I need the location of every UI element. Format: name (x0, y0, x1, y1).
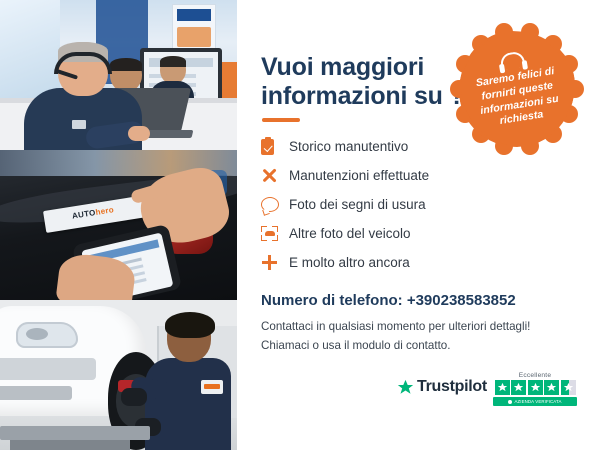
speech-bubble-icon (261, 197, 289, 212)
photo-strip: AUTOhero (0, 0, 237, 450)
star-icon (495, 380, 510, 395)
content-panel: Vuoi maggiori informazioni su ? Saremo f… (237, 0, 600, 450)
trustpilot-wordmark: Trustpilot (417, 378, 487, 396)
photo-call-center (0, 0, 237, 150)
list-item: Manutenzioni effettuate (261, 161, 561, 190)
photo3-lift-base (10, 440, 130, 450)
photo-sticker-inspection: AUTOhero (0, 150, 237, 300)
list-item: Storico manutentivo (261, 132, 561, 161)
trustpilot-widget[interactable]: Trustpilot Eccellente (397, 372, 577, 414)
photo3-headlight (16, 322, 78, 348)
callout-badge: Saremo felici di fornirti queste informa… (459, 31, 575, 147)
plus-icon (261, 254, 289, 271)
contact-line-1: Contattaci in qualsiasi momento per ulte… (261, 318, 573, 337)
document-check-icon (261, 139, 289, 155)
car-frame-icon (261, 226, 289, 241)
star-icon (528, 380, 543, 395)
star-icon (511, 380, 526, 395)
verified-label: AZIENDA VERIFICATA (514, 399, 561, 404)
contact-instructions: Contattaci in qualsiasi momento per ulte… (261, 318, 573, 356)
wrench-cross-icon (261, 167, 289, 184)
badge-text: Saremo felici di fornirti queste informa… (457, 62, 580, 135)
trustpilot-rating: Eccellente (493, 372, 577, 406)
list-item: Altre foto del veicolo (261, 219, 561, 248)
photo-mechanic-lift (0, 300, 237, 450)
advertisement-panel: AUTOhero Vuoi m (0, 0, 600, 450)
verified-check-icon (508, 400, 512, 404)
trustpilot-star-icon (397, 379, 414, 396)
list-item-label: E molto altro ancora (289, 255, 410, 270)
phone-number[interactable]: Numero di telefono: +390238583852 (261, 292, 516, 309)
trustpilot-logo: Trustpilot (397, 378, 487, 396)
star-rating (493, 380, 577, 395)
title-divider (262, 118, 300, 122)
photo3-lift-arm (0, 426, 150, 440)
list-item: E molto altro ancora (261, 248, 561, 277)
photo3-lower-grille (0, 386, 72, 400)
list-item-label: Storico manutentivo (289, 139, 408, 154)
list-item-label: Manutenzioni effettuate (289, 168, 429, 183)
star-icon-half (561, 380, 576, 395)
photo3-mechanic (145, 314, 231, 450)
rating-label: Eccellente (493, 372, 577, 379)
headset-icon (499, 50, 525, 70)
feature-list: Storico manutentivo Manutenzioni effettu… (261, 132, 561, 277)
list-item-label: Foto dei segni di usura (289, 197, 426, 212)
verified-badge: AZIENDA VERIFICATA (493, 397, 577, 406)
list-item-label: Altre foto del veicolo (289, 226, 411, 241)
star-icon (544, 380, 559, 395)
photo1-agent-front (24, 42, 142, 150)
list-item: Foto dei segni di usura (261, 190, 561, 219)
contact-line-2: Chiamaci o usa il modulo di contatto. (261, 337, 573, 356)
photo3-grille (0, 358, 96, 380)
